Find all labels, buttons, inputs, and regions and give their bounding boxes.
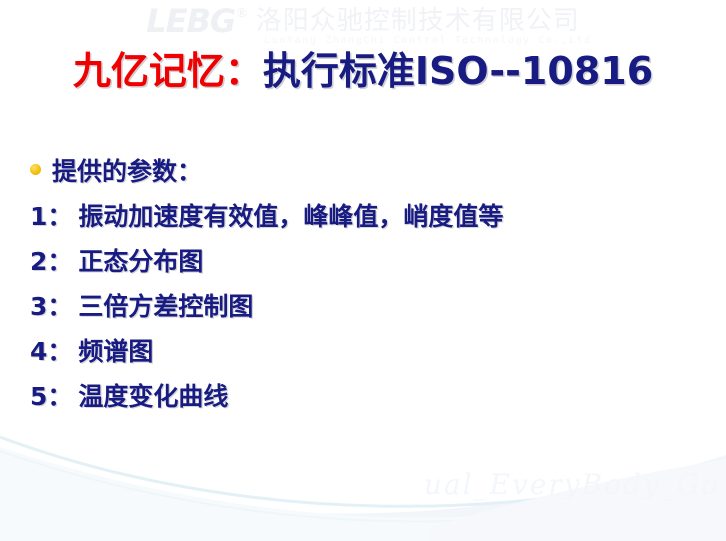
list-item-number: 3： <box>30 287 72 323</box>
list-item-number: 4： <box>30 332 72 368</box>
wave-band-lower <box>0 455 726 541</box>
list-item: 2： 正态分布图 <box>30 242 710 287</box>
wave-band-mid <box>0 447 726 541</box>
list-item: 3： 三倍方差控制图 <box>30 287 710 332</box>
list-item-label: 温度变化曲线 <box>78 377 228 413</box>
company-name-en: LuoYang ZhongChi Control Technology Co.,… <box>264 35 592 46</box>
company-name-cn: 洛阳众驰控制技术有限公司 <box>256 4 580 38</box>
list-item: 4： 频谱图 <box>30 332 710 377</box>
list-item-label: 三倍方差控制图 <box>78 287 253 323</box>
registered-mark-icon: ® <box>237 4 247 22</box>
wave-stroke-lower <box>0 451 726 521</box>
lebg-logo: LEBG <box>146 4 235 38</box>
wave-band-right <box>430 459 726 541</box>
list-item-number: 1： <box>30 197 72 233</box>
bullet-dot-icon <box>30 164 41 175</box>
list-item: 5： 温度变化曲线 <box>30 377 710 422</box>
wave-svg-icon <box>0 431 726 541</box>
list-item-heading: 提供的参数： <box>30 152 710 197</box>
slide-title: 九亿记忆：执行标准ISO--10816 <box>0 47 726 95</box>
list-item-number: 2： <box>30 242 72 278</box>
footer-watermark-text: ual_EveryBody_Go <box>424 468 720 501</box>
list-item-heading-label: 提供的参数： <box>52 152 202 188</box>
title-red-segment: 九亿记忆： <box>73 49 263 93</box>
wave-stroke-upper <box>0 437 726 506</box>
list-item-number: 5： <box>30 377 72 413</box>
title-navy-segment: 执行标准ISO--10816 <box>263 49 653 93</box>
list-item-label: 正态分布图 <box>78 242 203 278</box>
watermark-row: LEBG ® 洛阳众驰控制技术有限公司 <box>146 4 580 38</box>
content-list: 提供的参数： 1： 振动加速度有效值，峰峰值，峭度值等 2： 正态分布图 3： … <box>30 152 710 422</box>
list-item-label: 频谱图 <box>78 332 153 368</box>
list-item-label: 振动加速度有效值，峰峰值，峭度值等 <box>78 197 503 233</box>
slide-canvas: LEBG ® 洛阳众驰控制技术有限公司 LuoYang ZhongChi Con… <box>0 0 726 541</box>
list-item: 1： 振动加速度有效值，峰峰值，峭度值等 <box>30 197 710 242</box>
footer-wave-decoration: ual_EveryBody_Go <box>0 431 726 541</box>
